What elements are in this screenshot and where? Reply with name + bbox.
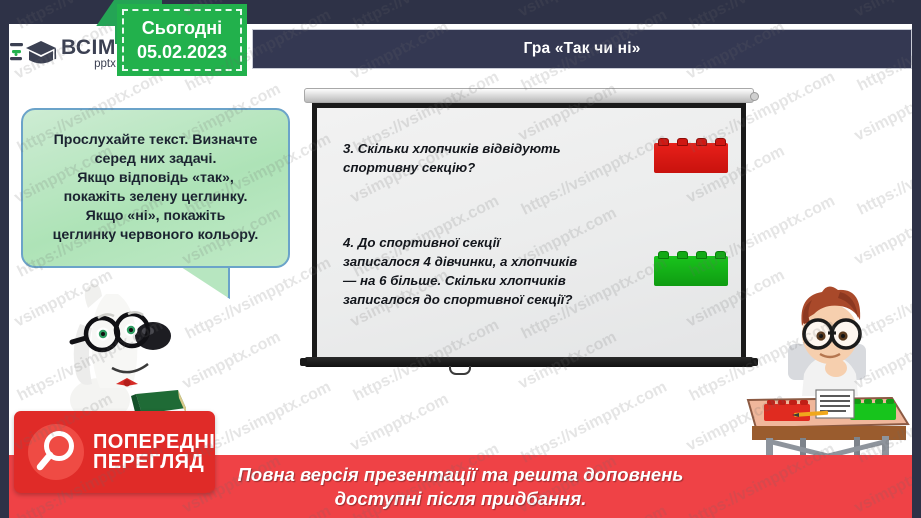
watermark-text: vsimpptx.com — [852, 205, 921, 270]
bubble-line: Прослухайте текст. Визначте — [54, 131, 258, 150]
question-line: записалося 4 дівчинки, а хлопчиків — [343, 253, 655, 272]
projector-bottom-bar — [305, 357, 753, 367]
screen-canvas: 3. Скільки хлопчиків відвідують спортивн… — [317, 108, 741, 357]
logo-main-text: ВСІМ — [61, 37, 116, 58]
banner-line-1: Повна версія презентації та решта доповн… — [238, 463, 684, 486]
banner-line-2: доступні після придбання. — [335, 487, 587, 510]
roller-knob — [750, 92, 759, 101]
question-line: спортивну секцію? — [343, 159, 655, 178]
question-line: записалося до спортивної секції? — [343, 291, 655, 310]
question-line: 3. Скільки хлопчиків відвідують — [343, 140, 655, 159]
brick-studs — [658, 138, 726, 146]
bubble-line: цеглинку червоного кольору. — [53, 226, 259, 245]
brick-stud — [696, 251, 707, 259]
date-value: 05.02.2023 — [137, 40, 227, 64]
bubble-line: Якщо «ні», покажіть — [86, 207, 226, 226]
page-title: Гра «Так чи ні» — [523, 40, 640, 58]
preview-badge[interactable]: ПОПЕРЕДНІЙ ПЕРЕГЛЯД — [14, 411, 215, 493]
preview-line-1: ПОПЕРЕДНІЙ — [93, 432, 230, 452]
graduation-cap-icon — [10, 37, 56, 71]
projector-roller — [304, 88, 754, 103]
dog-character — [36, 272, 186, 422]
date-badge: Сьогодні 05.02.2023 — [117, 4, 247, 76]
watermark-text: vsimpptx.com — [180, 329, 284, 394]
projector-screen: 3. Скільки хлопчиків відвідують спортивн… — [312, 103, 746, 357]
brick-stud — [658, 251, 669, 259]
bubble-line: серед них задачі. — [95, 150, 217, 169]
projector-pull-handle — [449, 366, 471, 375]
right-frame-edge — [912, 0, 921, 518]
logo-sub-text: pptx — [94, 59, 116, 71]
lego-brick-green — [654, 256, 728, 286]
brick-stud — [677, 138, 688, 146]
bubble-line: покажіть зелену цеглинку. — [64, 188, 248, 207]
left-frame-edge — [0, 0, 9, 518]
speech-bubble: Прослухайте текст. Визначте серед них за… — [21, 108, 290, 268]
preview-line-2: ПЕРЕГЛЯД — [93, 452, 230, 472]
watermark-text: vsimpptx.com — [852, 81, 921, 146]
brick-stud — [715, 138, 726, 146]
brick-studs — [658, 251, 726, 259]
question-line: 4. До спортивної секції — [343, 234, 655, 253]
slide-root: ВСІМ pptx Сьогодні 05.02.2023 Гра «Так ч… — [0, 0, 921, 518]
watermark-text: vsimpptx.com — [348, 391, 452, 456]
brick-stud — [715, 251, 726, 259]
brick-stud — [658, 138, 669, 146]
question-text: 4. До спортивної секції записалося 4 дів… — [343, 234, 655, 310]
magnifier-icon — [28, 424, 84, 480]
header-bar: Гра «Так чи ні» — [252, 29, 912, 69]
boy-at-desk — [742, 278, 918, 478]
brand-logo: ВСІМ pptx — [0, 26, 115, 82]
bubble-line: Якщо відповідь «так», — [77, 169, 234, 188]
brick-stud — [696, 138, 707, 146]
brick-stud — [677, 251, 688, 259]
date-label: Сьогодні — [142, 16, 222, 40]
question-text: 3. Скільки хлопчиків відвідують спортивн… — [343, 140, 655, 178]
question-line: — на 6 більше. Скільки хлопчиків — [343, 272, 655, 291]
lego-brick-red — [654, 143, 728, 173]
